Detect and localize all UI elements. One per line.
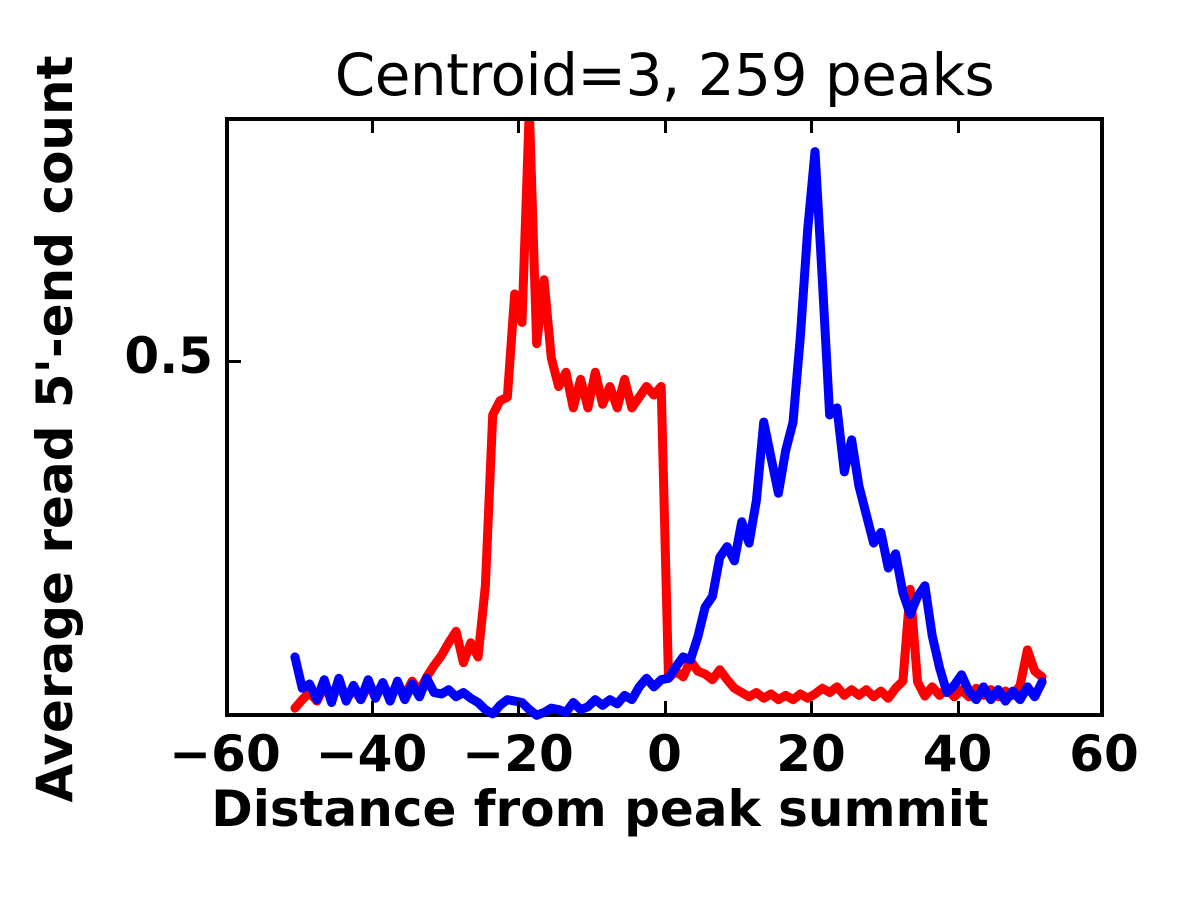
x-tick-mark-top (371, 119, 374, 133)
y-tick-mark (227, 360, 241, 363)
x-tick-mark (810, 701, 813, 715)
x-tick-mark (517, 701, 520, 715)
plot-canvas (229, 121, 1108, 721)
series-group (295, 121, 1042, 715)
y-tick-label: 0.5 (13, 327, 213, 385)
chart-figure: Centroid=3, 259 peaks Average read 5'-en… (0, 0, 1200, 900)
plot-area (225, 117, 1104, 717)
y-axis-label: Average read 5'-end count (26, 0, 84, 879)
x-tick-mark (664, 701, 667, 715)
x-tick-label: 60 (1069, 725, 1139, 783)
x-tick-mark-top (957, 119, 960, 133)
x-tick-label: 20 (776, 725, 846, 783)
x-tick-mark-top (517, 119, 520, 133)
x-tick-label: 0 (647, 725, 682, 783)
x-tick-label: −60 (169, 725, 280, 783)
x-tick-mark-top (810, 119, 813, 133)
x-tick-label: −40 (316, 725, 427, 783)
x-tick-mark-top (664, 119, 667, 133)
x-tick-mark (957, 701, 960, 715)
chart-title: Centroid=3, 259 peaks (225, 44, 1104, 106)
x-tick-label: −20 (462, 725, 573, 783)
x-axis-label: Distance from peak summit (0, 780, 1200, 838)
x-tick-label: 40 (923, 725, 993, 783)
x-tick-mark (371, 701, 374, 715)
